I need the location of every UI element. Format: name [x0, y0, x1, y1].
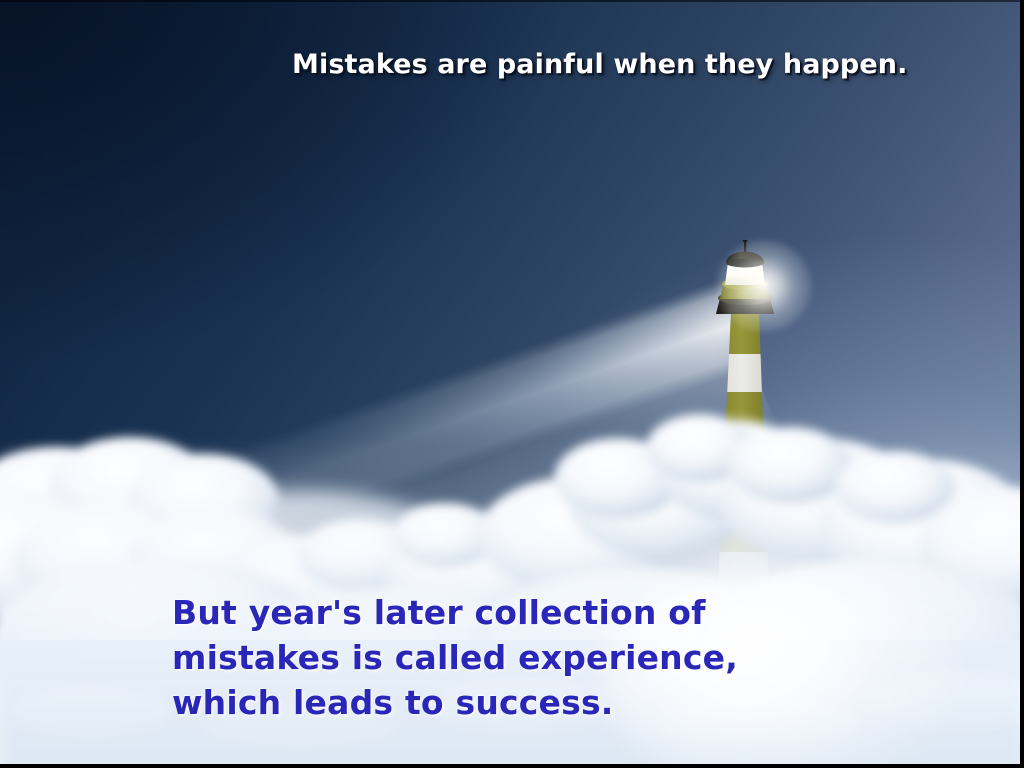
quote-block: But year's later collection of mistakes …: [172, 590, 812, 725]
border-right: [1020, 0, 1024, 768]
quote-line-2: mistakes is called experience,: [172, 635, 812, 680]
quote-line-3: which leads to success.: [172, 680, 812, 725]
border-top: [0, 0, 1024, 2]
slide-canvas: Mistakes are painful when they happen. B…: [0, 0, 1024, 768]
border-bottom: [0, 764, 1024, 768]
quote-line-1: But year's later collection of: [172, 590, 812, 635]
headline-text: Mistakes are painful when they happen.: [292, 48, 952, 82]
